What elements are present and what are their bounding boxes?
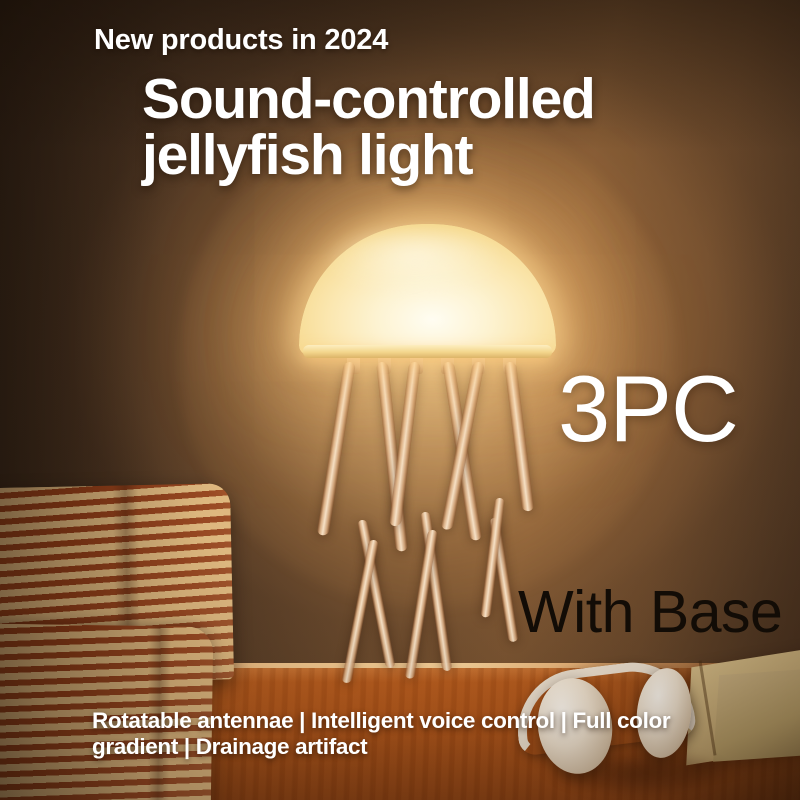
- dome-bottom-rim: [303, 345, 552, 358]
- headline-title: Sound-controlled jellyfish light: [142, 72, 742, 184]
- with-base-badge: With Base: [518, 583, 782, 642]
- dome-specular-highlight: [330, 231, 500, 291]
- eyebrow-text: New products in 2024: [94, 24, 388, 57]
- feature-list-text: Rotatable antennae | Intelligent voice c…: [92, 708, 752, 760]
- product-banner-image: New products in 2024 Sound-controlled je…: [0, 0, 800, 800]
- quantity-badge: 3PC: [558, 362, 738, 456]
